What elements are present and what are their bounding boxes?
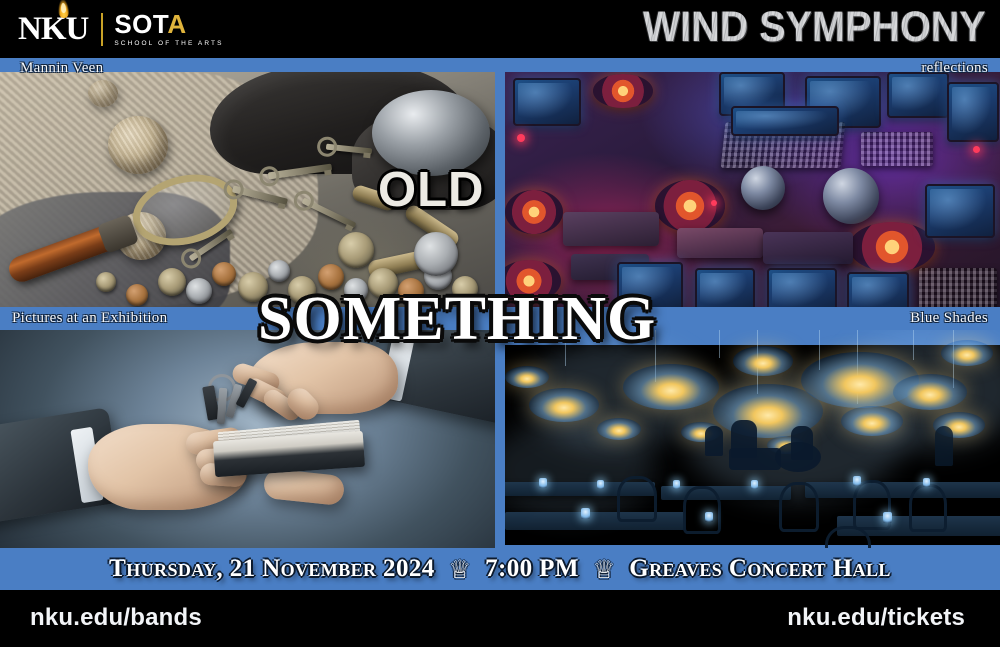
blue-image	[505, 330, 1000, 565]
sota-wordmark: SOTA	[114, 11, 223, 37]
poster-footer: nku.edu/bands nku.edu/tickets	[0, 590, 1000, 647]
sphere-device	[741, 166, 785, 210]
pendant-lamp	[841, 406, 903, 436]
candle	[673, 480, 680, 489]
device-screen	[947, 82, 999, 142]
phone-screen	[847, 272, 909, 307]
nku-sota-logo: NKU SOTA SCHOOL OF THE ARTS	[18, 8, 224, 50]
piece-label-blue-shades: Blue Shades	[910, 310, 988, 327]
candle	[751, 480, 758, 489]
coin	[126, 284, 148, 306]
tickets-url[interactable]: nku.edu/tickets	[787, 604, 965, 632]
yarn-ball-small	[88, 80, 118, 107]
coin-large	[414, 232, 458, 276]
pendant-lamp	[623, 364, 719, 410]
key	[217, 388, 227, 424]
pendant-lamp	[597, 418, 641, 440]
pendant-lamp	[733, 346, 793, 376]
sota-tagline: SCHOOL OF THE ARTS	[114, 40, 223, 47]
chair	[909, 484, 947, 532]
candle	[705, 512, 713, 522]
pendant-lamp	[529, 388, 599, 422]
coin	[158, 268, 186, 296]
quadrant-borrowed: BoRROWed	[0, 330, 495, 565]
candle	[597, 480, 604, 489]
disc-light	[655, 180, 725, 232]
device-screen	[513, 78, 581, 126]
concert-poster: NKU SOTA SCHOOL OF THE ARTS WIND SYMPHON…	[0, 0, 1000, 647]
gadget	[763, 232, 853, 264]
sota-lockup: SOTA SCHOOL OF THE ARTS	[114, 11, 223, 47]
pendant-lamp	[941, 340, 993, 366]
disc-light	[849, 222, 935, 272]
coin-large-2	[338, 232, 374, 268]
pendant-lamp	[893, 374, 967, 410]
piece-label-pictures-at-an-exhibition: Pictures at an Exhibition	[12, 310, 167, 327]
borrowed-image	[0, 330, 495, 565]
piece-label-mannin-veen: Mannin Veen	[20, 60, 103, 77]
event-venue: Greaves Concert Hall	[629, 555, 891, 583]
chair	[779, 482, 819, 532]
ensemble-title: WIND SYMPHONY	[643, 2, 986, 52]
piano-silhouette	[729, 448, 781, 470]
chair	[683, 486, 721, 534]
poster-header: NKU SOTA SCHOOL OF THE ARTS WIND SYMPHON…	[0, 0, 1000, 58]
keypad	[861, 132, 933, 166]
tablet-screen	[695, 268, 755, 307]
candle	[853, 476, 861, 486]
disc-light	[505, 190, 563, 234]
headline-something: SOMETHING	[258, 284, 656, 355]
supporting-finger	[263, 468, 346, 506]
yarn-ball-large	[108, 116, 168, 174]
piece-label-reflections: reflections	[921, 60, 988, 77]
disc-light	[593, 74, 653, 108]
event-time: 7:00 PM	[485, 555, 579, 583]
quadrant-blue: BLUE	[505, 330, 1000, 565]
gadget	[677, 228, 763, 258]
candle	[539, 478, 547, 488]
lamp-cord	[913, 330, 914, 360]
table	[505, 512, 685, 530]
coin	[186, 278, 212, 304]
audience-silhouette	[935, 426, 953, 466]
event-details-bar: Thursday, 21 November 2024 ♕ 7:00 PM ♕ G…	[0, 548, 1000, 590]
bands-url[interactable]: nku.edu/bands	[30, 604, 202, 632]
candle	[581, 508, 590, 519]
drum-kit	[775, 442, 821, 472]
chair	[617, 476, 657, 522]
logo-divider	[101, 13, 103, 46]
quadrant-new: NEW	[505, 72, 1000, 307]
new-image	[505, 72, 1000, 307]
laptop-screen	[731, 106, 839, 136]
monitor-screen	[925, 184, 995, 238]
tablet-screen	[767, 268, 837, 307]
table	[661, 486, 791, 500]
crown-ornament-icon: ♕	[593, 557, 615, 582]
quadrant-old: OLD	[0, 72, 495, 307]
crown-ornament-icon: ♕	[449, 557, 471, 582]
musician-silhouette	[705, 426, 723, 456]
lamp-cord	[719, 330, 720, 358]
sphere-device	[823, 168, 879, 224]
coin	[268, 260, 290, 282]
nku-wordmark: NKU	[18, 13, 88, 46]
led-indicator	[973, 146, 980, 153]
keyboard	[919, 268, 997, 307]
pendant-lamp	[505, 366, 549, 388]
candle	[923, 478, 930, 487]
flame-icon	[57, 0, 69, 18]
candle	[883, 512, 892, 523]
table	[805, 482, 1000, 498]
coin	[96, 272, 116, 292]
gadget	[563, 212, 659, 246]
led-indicator	[517, 134, 525, 142]
device-screen	[887, 72, 949, 118]
headline-old: OLD	[378, 162, 484, 218]
coin	[212, 262, 236, 286]
led-indicator	[711, 200, 717, 206]
event-date: Thursday, 21 November 2024	[109, 555, 435, 583]
